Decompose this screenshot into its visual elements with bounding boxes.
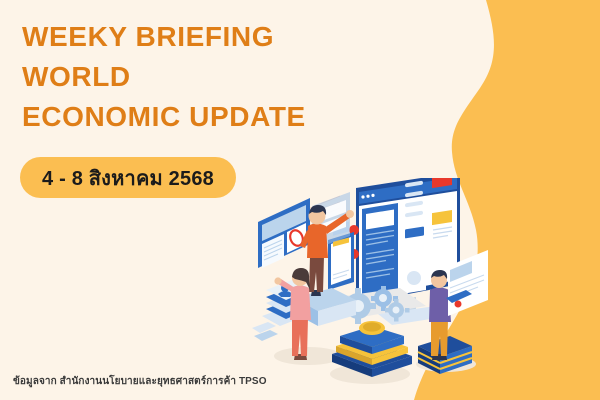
right-panel-marker — [455, 301, 462, 308]
titlebar-dot-2 — [366, 195, 369, 198]
title-line-1: WEEKY BRIEFING — [22, 17, 442, 57]
fig2-hand — [274, 277, 281, 284]
source-credit: ข้อมูลจาก สำนักงานนโยบายและยุทธศาสตร์การ… — [13, 374, 267, 389]
title-line-3: ECONOMIC UPDATE — [22, 97, 442, 137]
titlebar-dot-1 — [361, 195, 364, 198]
date-badge-label: 4 - 8 สิงหาคม 2568 — [42, 162, 214, 194]
fig1-hand — [346, 210, 354, 218]
gold-coin-inner — [363, 322, 381, 331]
page-title: WEEKY BRIEFING WORLD ECONOMIC UPDATE — [22, 17, 442, 136]
ground-shadow-left — [274, 347, 342, 365]
fig2-shirt — [290, 286, 311, 321]
loose-sheet-2 — [254, 330, 278, 341]
poster-canvas: WEEKY BRIEFING WORLD ECONOMIC UPDATE 4 -… — [0, 0, 600, 400]
dashboard-mid-circle — [407, 271, 421, 285]
title-line-2: WORLD — [22, 57, 442, 97]
isometric-business-analytics-illustration — [250, 178, 500, 393]
date-badge: 4 - 8 สิงหาคม 2568 — [20, 157, 236, 198]
titlebar-dot-3 — [371, 194, 374, 197]
fig1-pants — [309, 256, 324, 292]
